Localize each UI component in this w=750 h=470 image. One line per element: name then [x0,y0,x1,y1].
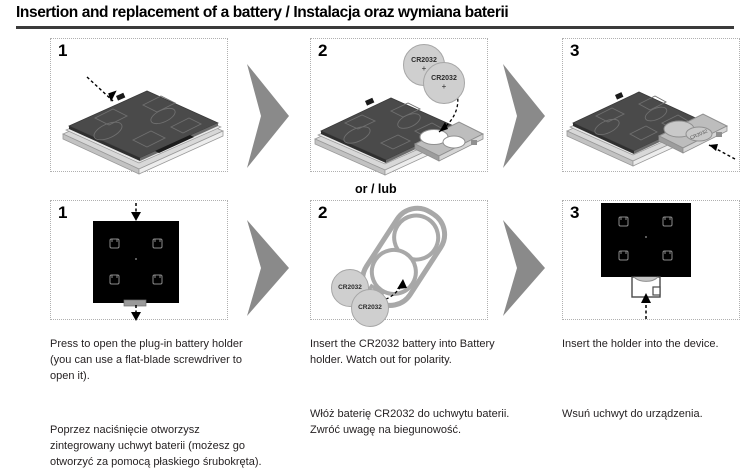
panel-row2-step2: 2 CR2032 CR2032 [310,200,488,320]
title-divider-rule [16,26,734,29]
panel-number: 3 [570,41,579,61]
caption-polish: Włóż baterię CR2032 do uchwytu baterii. … [310,406,525,438]
caption-polish: Wsuń uchwyt do urządzenia. [562,406,747,422]
caption-english: Press to open the plug-in battery holder… [50,336,265,384]
caption-polish: Poprzez naciśnięcie otworzysz zintegrowa… [50,422,265,470]
panel-row1-step3: 3 CR2032 [562,38,740,172]
caption-column-step3: Insert the holder into the device. Wsuń … [562,336,747,422]
illustration-isometric-cooktop-tray-loaded: CR2032 [563,39,741,173]
dashed-arrow-press [87,77,119,102]
panel-number: 2 [318,41,327,61]
illustration-topview-cooktop-holder-inserted [563,201,741,321]
dashed-arrow-eject-bottom [131,305,141,321]
dashed-arrow-press-top [131,203,141,221]
panel-row1-step1: 1 [50,38,228,172]
dashed-arrow-push-tray [709,144,735,159]
caption-english: Insert the CR2032 battery into Battery h… [310,336,525,368]
panel-row2-step1: 1 [50,200,228,320]
alternative-method-divider: or / lub [355,182,397,196]
chevron-separator-2 [500,62,552,170]
illustration-isometric-cooktop-tray-open [311,39,489,173]
panel-row2-step3: 3 [562,200,740,320]
illustration-topview-cooktop-closed [51,201,229,321]
page-title: Insertion and replacement of a battery /… [16,4,508,22]
chevron-separator-3 [244,218,296,318]
caption-english: Insert the holder into the device. [562,336,747,352]
caption-column-step2: Insert the CR2032 battery into Battery h… [310,336,525,438]
battery-cr2032-2: CR2032 + [423,62,465,104]
title-bar: Insertion and replacement of a battery /… [0,0,750,30]
battery-cr2032-2: CR2032 [351,289,389,327]
caption-column-step1: Press to open the plug-in battery holder… [50,336,265,470]
panel-number: 2 [318,203,327,223]
chevron-separator-4 [500,218,552,318]
panel-number: 1 [58,41,67,61]
panel-number: 3 [570,203,579,223]
illustration-isometric-cooktop-closed [51,39,229,173]
panel-row1-step2: 2 [310,38,488,172]
chevron-separator-1 [244,62,296,170]
panel-number: 1 [58,203,67,223]
